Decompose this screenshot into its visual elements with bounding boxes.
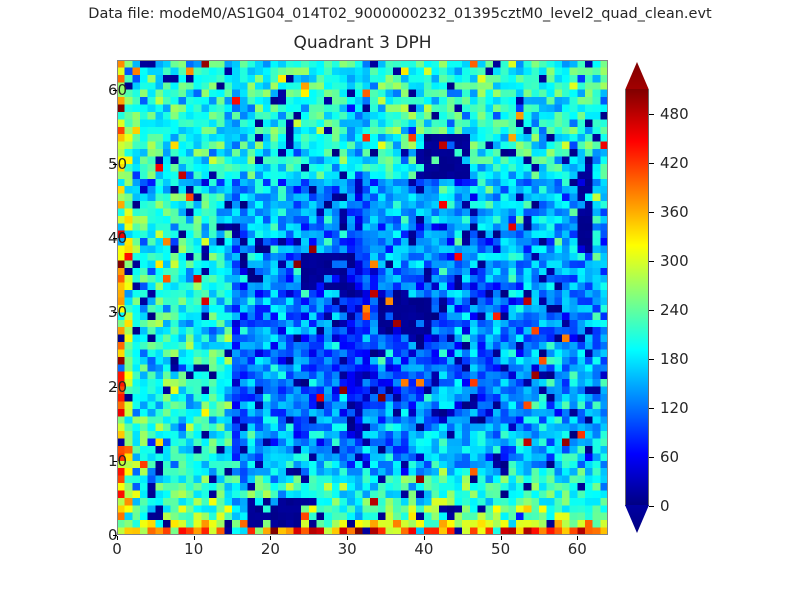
y-tick-mark [113,238,117,239]
axes-title: Quadrant 3 DPH [117,33,608,53]
colorbar-tick-label: 120 [660,399,689,417]
y-tick-mark [113,90,117,91]
colorbar-tick-mark [649,212,654,213]
colorbar-tick-label: 240 [660,301,689,319]
x-tick-label: 30 [338,540,357,558]
colorbar-tick-mark [649,359,654,360]
x-tick-label: 20 [261,540,280,558]
x-tick-mark [194,536,195,540]
colorbar-tick-label: 300 [660,252,689,270]
x-tick-mark [270,536,271,540]
colorbar-tick-label: 60 [660,448,679,466]
colorbar-tick-mark [649,408,654,409]
colorbar-under-arrow [625,505,649,533]
heatmap-image [117,60,608,535]
y-tick-mark [113,535,117,536]
colorbar-tick-label: 360 [660,203,689,221]
colorbar-tick-mark [649,163,654,164]
y-tick-mark [113,387,117,388]
colorbar-tick-label: 180 [660,350,689,368]
x-tick-label: 50 [491,540,510,558]
colorbar [625,62,649,533]
colorbar-tick-label: 480 [660,105,689,123]
y-tick-mark [113,312,117,313]
colorbar-tick-mark [649,506,654,507]
x-tick-label: 10 [184,540,203,558]
heatmap-plot-area [117,60,608,535]
colorbar-tick-mark [649,310,654,311]
x-tick-mark [501,536,502,540]
colorbar-tick-label: 420 [660,154,689,172]
colorbar-tick-label: 0 [660,497,670,515]
x-tick-label: 60 [568,540,587,558]
colorbar-tick-mark [649,457,654,458]
x-tick-mark [347,536,348,540]
colorbar-tick-mark [649,114,654,115]
y-tick-mark [113,164,117,165]
data-file-suptitle: Data file: modeM0/AS1G04_014T02_90000002… [0,6,800,22]
x-tick-mark [577,536,578,540]
matplotlib-figure: Data file: modeM0/AS1G04_014T02_90000002… [0,0,800,600]
x-tick-mark [424,536,425,540]
colorbar-tick-mark [649,261,654,262]
x-tick-label: 40 [414,540,433,558]
colorbar-over-arrow [625,62,649,90]
y-tick-mark [113,461,117,462]
colorbar-gradient [625,89,649,506]
